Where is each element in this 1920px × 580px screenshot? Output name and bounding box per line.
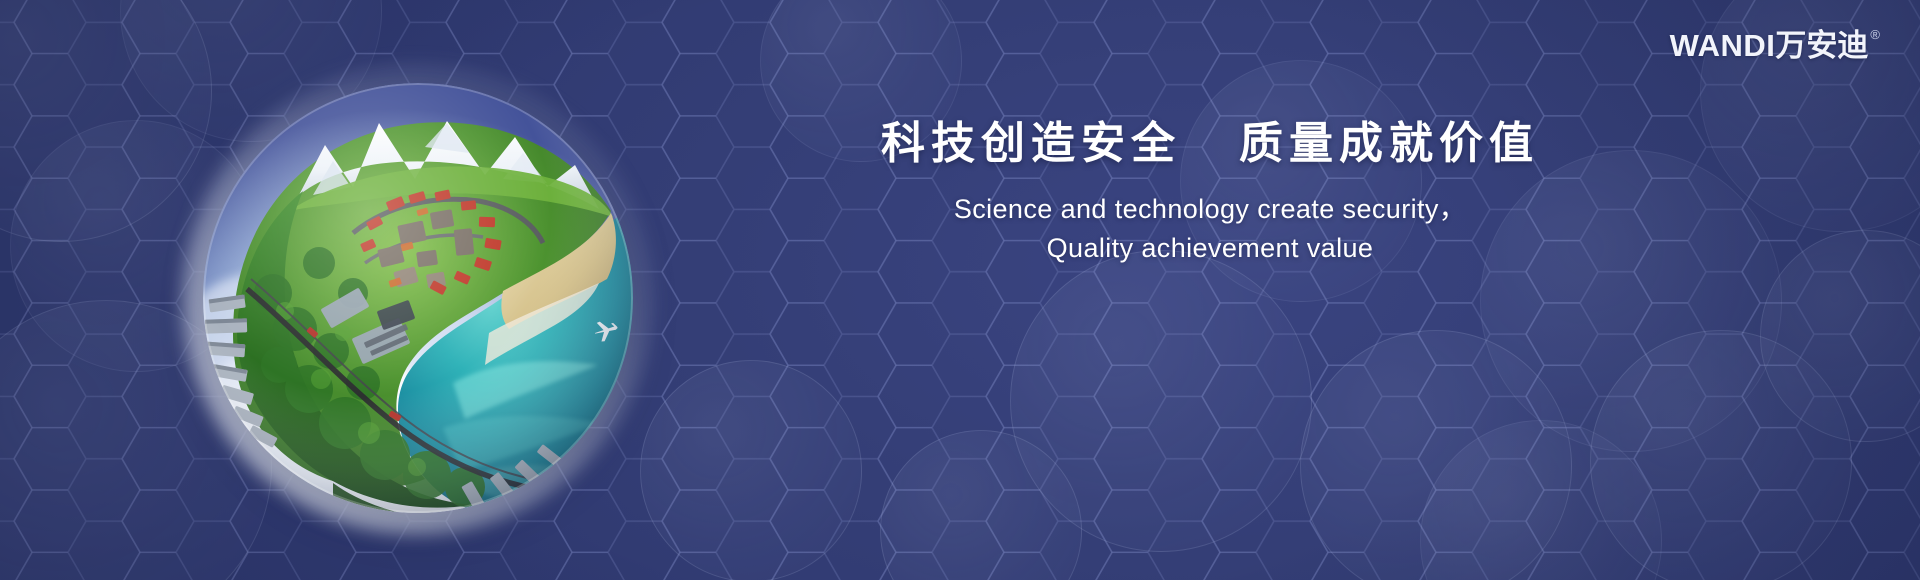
logo-latin-text: WANDI: [1670, 30, 1776, 61]
headline-part2: 质量成就价值: [1239, 119, 1539, 168]
registered-trademark-icon: ®: [1870, 28, 1880, 41]
copy-block: 科技创造安全质量成就价值 Science and technology crea…: [760, 120, 1660, 267]
subtitle-line2: Quality achievement value: [760, 229, 1660, 267]
subtitle-line1: Science and technology create security，: [954, 194, 1466, 224]
globe-artwork: [168, 48, 668, 548]
logo-chinese-text: 万安迪: [1775, 30, 1868, 61]
subtitle: Science and technology create security， …: [760, 190, 1660, 267]
hero-banner: 科技创造安全质量成就价值 Science and technology crea…: [0, 0, 1920, 580]
headline-part1: 科技创造安全: [881, 119, 1181, 168]
little-planet-icon: [203, 83, 633, 513]
headline: 科技创造安全质量成就价值: [760, 120, 1660, 168]
brand-logo[interactable]: WANDI 万安迪 ®: [1670, 30, 1880, 61]
